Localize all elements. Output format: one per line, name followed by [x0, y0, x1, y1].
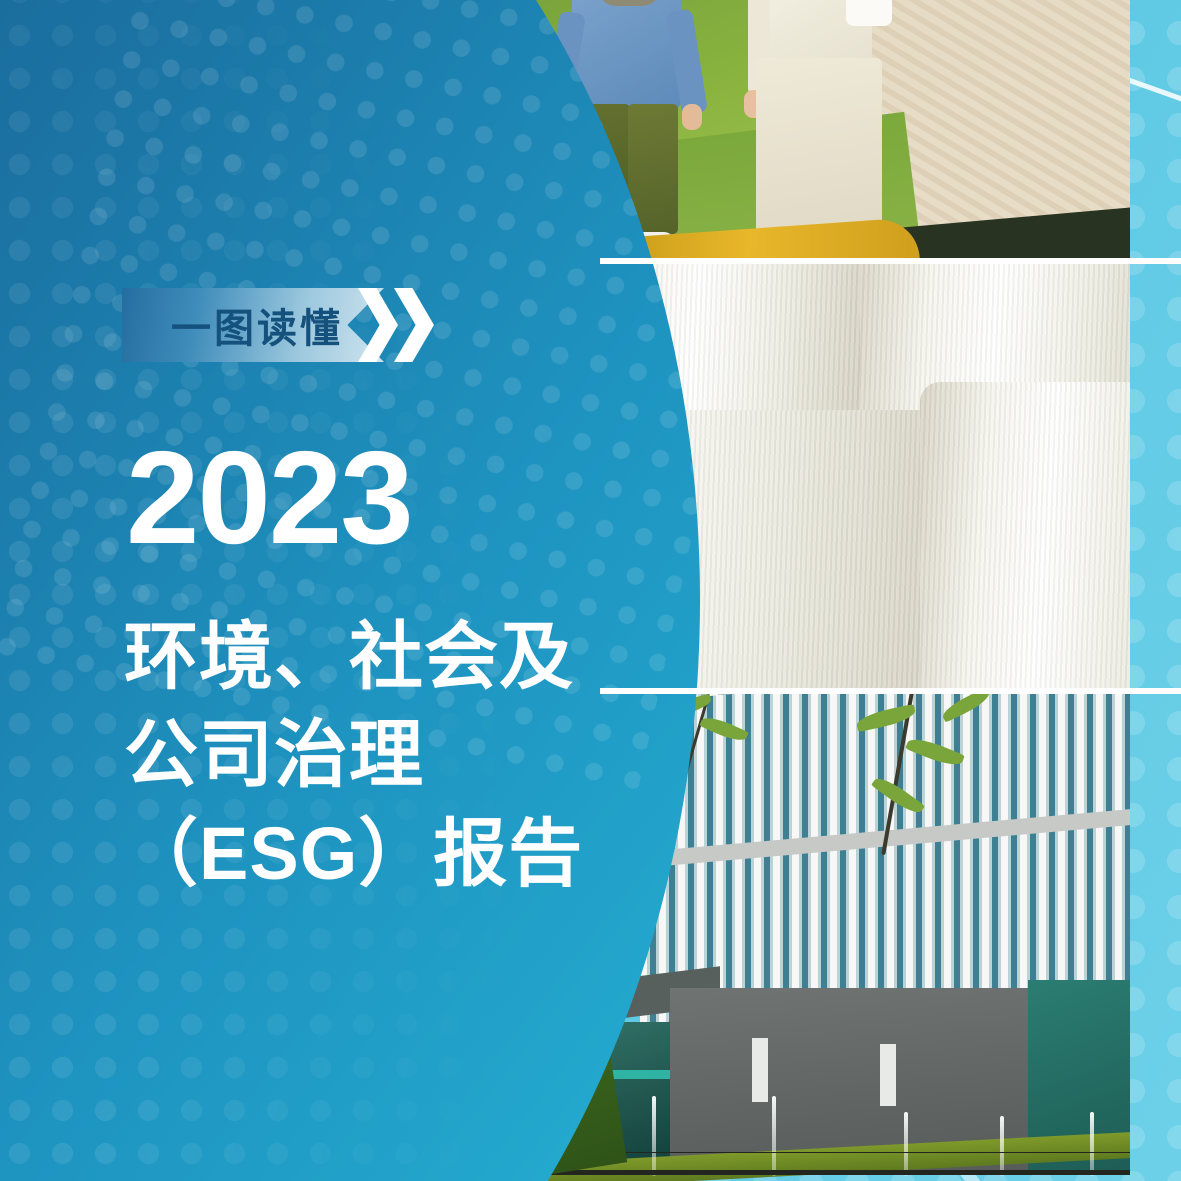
title-line-2: 公司治理 — [124, 706, 583, 804]
report-title: 环境、社会及 公司治理 （ESG）报告 — [124, 608, 583, 903]
chevron-right-icon-2 — [394, 288, 434, 362]
title-line-1: 环境、社会及 — [124, 608, 583, 706]
report-year: 2023 — [126, 432, 412, 564]
badge-label: 一图读懂 — [171, 296, 343, 354]
title-line-3: （ESG）报告 — [124, 805, 583, 903]
badge-ribbon: 一图读懂 — [122, 288, 384, 362]
read-at-a-glance-badge: 一图读懂 — [122, 288, 384, 362]
cover-content: 一图读懂 2023 环境、社会及 公司治理 （ESG）报告 — [0, 0, 700, 1181]
esg-report-cover: 一图读懂 2023 环境、社会及 公司治理 （ESG）报告 — [0, 0, 1181, 1181]
